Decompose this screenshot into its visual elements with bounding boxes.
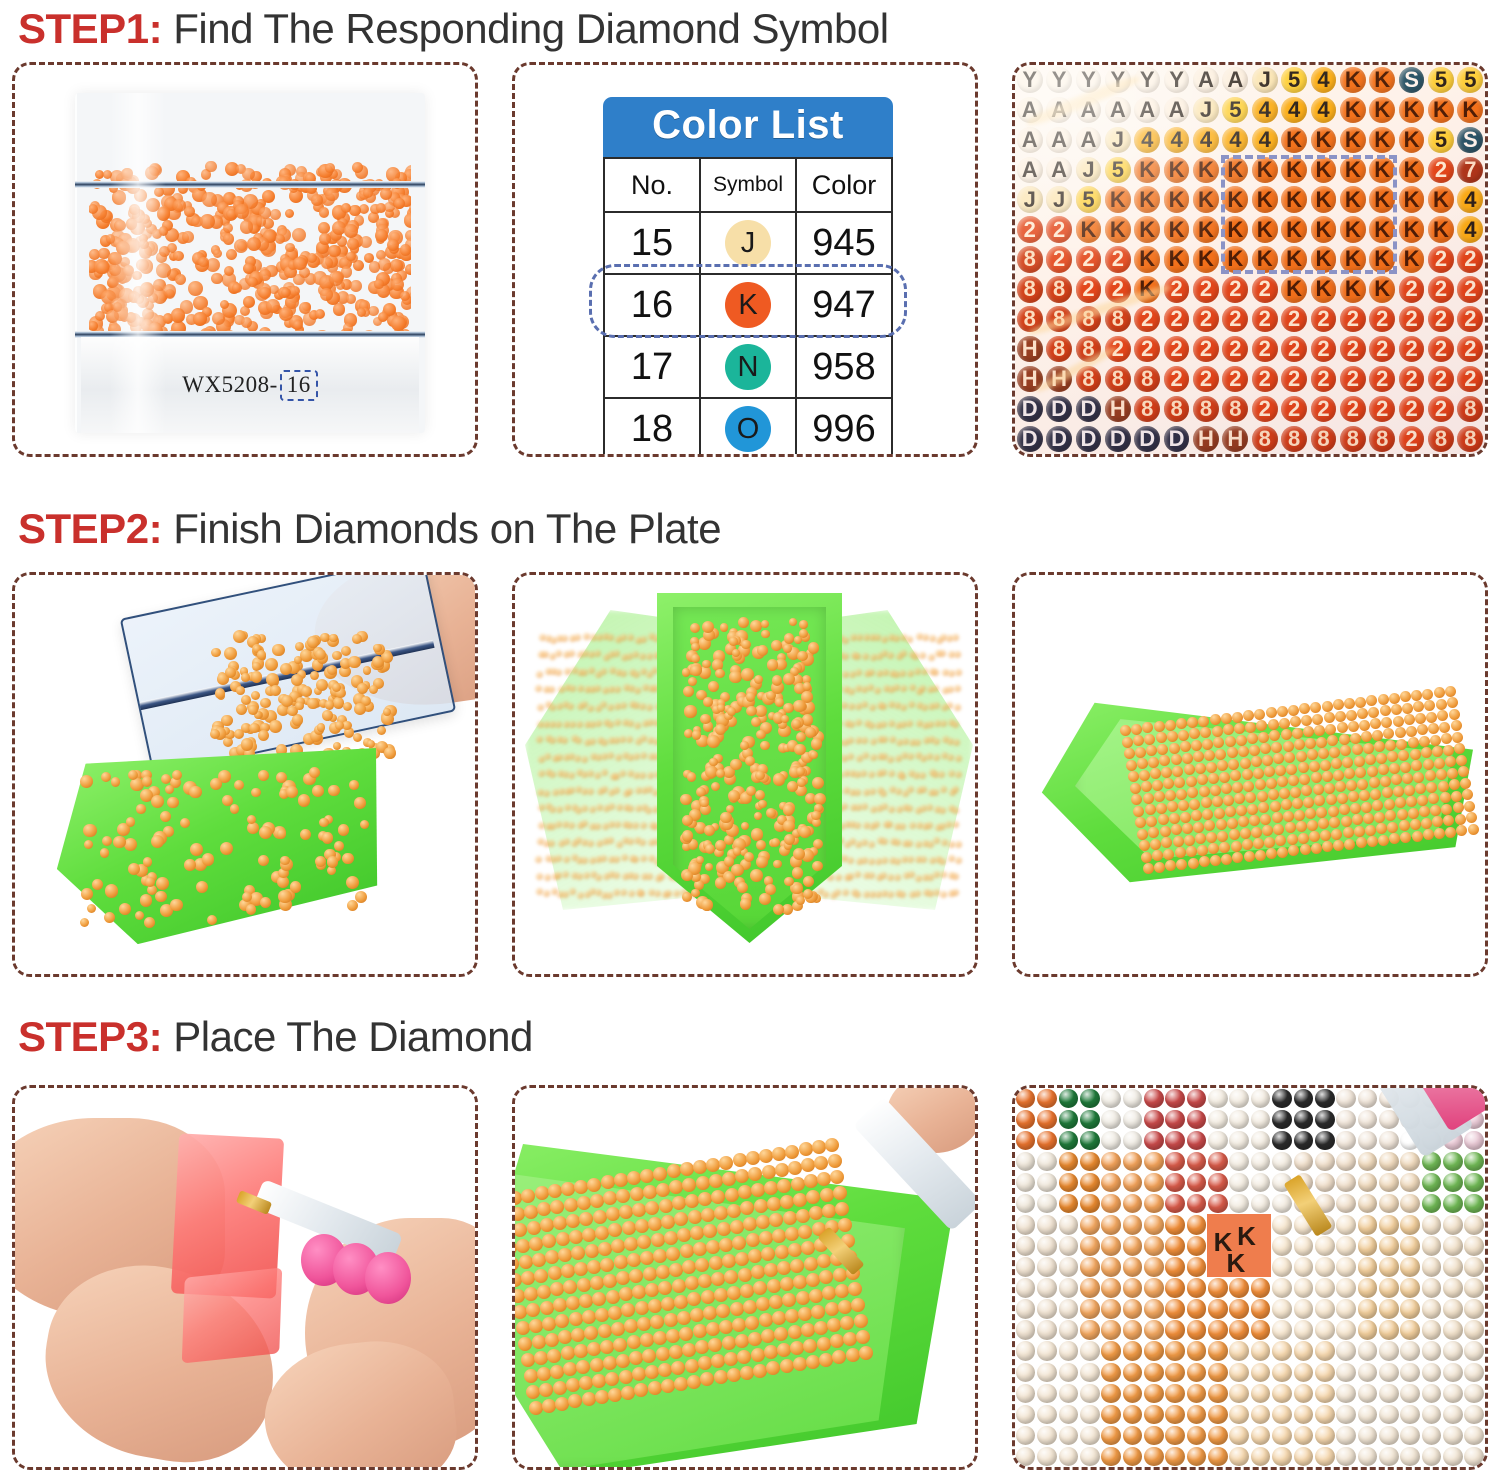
bead bbox=[277, 829, 287, 839]
step3-panel-waxpad bbox=[12, 1085, 478, 1470]
bead bbox=[579, 1376, 593, 1390]
bead bbox=[126, 817, 135, 826]
bead bbox=[1283, 741, 1294, 752]
bead bbox=[719, 1238, 733, 1252]
symbol-cell: 2 bbox=[1103, 274, 1132, 304]
bead bbox=[680, 1244, 694, 1258]
bead bbox=[1382, 787, 1393, 798]
bead bbox=[1422, 689, 1433, 700]
symbol-letter: 2 bbox=[1435, 336, 1447, 362]
bead bbox=[1402, 773, 1413, 784]
bead bbox=[582, 1310, 596, 1324]
bead bbox=[1447, 697, 1458, 708]
bead bbox=[782, 1293, 796, 1307]
bead bbox=[550, 1200, 564, 1214]
bead bbox=[584, 1326, 598, 1340]
symbol-cell: J bbox=[1074, 155, 1103, 185]
bead bbox=[1251, 827, 1262, 838]
step1-number: STEP1 bbox=[18, 5, 149, 52]
step2-panel-shake bbox=[512, 572, 978, 977]
bead bbox=[648, 1217, 662, 1231]
bead bbox=[1378, 764, 1389, 775]
symbol-letter: 2 bbox=[1317, 396, 1329, 422]
bead bbox=[262, 190, 275, 203]
symbol-cell: K bbox=[1368, 274, 1397, 304]
bead bbox=[1343, 827, 1354, 838]
bead bbox=[590, 1194, 604, 1208]
bead bbox=[629, 1269, 643, 1283]
bead bbox=[732, 1318, 746, 1332]
bead bbox=[803, 682, 811, 690]
bead bbox=[832, 1350, 846, 1364]
bead bbox=[529, 1401, 543, 1415]
bead bbox=[1395, 727, 1406, 738]
symbol-letter: 2 bbox=[1200, 366, 1212, 392]
bead bbox=[851, 1298, 865, 1312]
bead bbox=[529, 1237, 543, 1251]
symbol-letter: 8 bbox=[1053, 336, 1065, 362]
bead bbox=[1231, 841, 1242, 852]
symbol-cell: K bbox=[1250, 245, 1279, 275]
color-list-row[interactable]: 17N958 bbox=[604, 336, 892, 398]
symbol-letter: K bbox=[1286, 276, 1302, 302]
bead bbox=[840, 1316, 854, 1330]
bead bbox=[1399, 820, 1410, 831]
bead bbox=[1184, 835, 1195, 846]
bead bbox=[755, 790, 765, 800]
bead bbox=[1199, 856, 1210, 867]
symbol-letter: K bbox=[1257, 187, 1273, 213]
bead bbox=[1451, 791, 1462, 802]
bead bbox=[656, 1347, 670, 1361]
color-row-code: 945 bbox=[796, 212, 892, 274]
bead bbox=[751, 717, 761, 727]
color-row-code: 996 bbox=[796, 398, 892, 454]
bead bbox=[1322, 841, 1333, 852]
bead bbox=[753, 1364, 767, 1378]
color-list-row[interactable]: 15J945 bbox=[604, 212, 892, 274]
symbol-cell: 2 bbox=[1279, 304, 1308, 334]
bead bbox=[856, 1330, 870, 1344]
symbol-letter: 2 bbox=[1259, 306, 1271, 332]
symbol-cell: 4 bbox=[1250, 125, 1279, 155]
bead bbox=[1372, 730, 1383, 741]
symbol-cell: 2 bbox=[1456, 334, 1485, 364]
symbol-letter: 8 bbox=[1259, 426, 1271, 452]
bead bbox=[722, 1172, 736, 1186]
bead bbox=[806, 1355, 820, 1369]
bead bbox=[1410, 819, 1421, 830]
symbol-cell: 2 bbox=[1397, 274, 1426, 304]
symbol-letter: 2 bbox=[1464, 366, 1476, 392]
symbol-letter: J bbox=[1112, 127, 1124, 153]
bead bbox=[1299, 703, 1310, 714]
symbol-cell: 2 bbox=[1426, 245, 1455, 275]
bead bbox=[1199, 786, 1210, 797]
bead bbox=[1357, 708, 1368, 719]
bead bbox=[748, 1332, 762, 1346]
symbol-letter: J bbox=[1082, 157, 1094, 183]
symbol-cell: K bbox=[1133, 274, 1162, 304]
bead bbox=[643, 1185, 657, 1199]
bead bbox=[1260, 743, 1271, 754]
bead bbox=[80, 918, 89, 927]
symbol-cell: D bbox=[1044, 394, 1073, 424]
bead bbox=[83, 824, 96, 837]
bead bbox=[1367, 766, 1378, 777]
symbol-cell: K bbox=[1426, 185, 1455, 215]
bead bbox=[1337, 722, 1348, 733]
bead bbox=[151, 835, 164, 848]
bead bbox=[1131, 794, 1142, 805]
symbol-letter: Y bbox=[1022, 67, 1037, 93]
bead bbox=[1227, 747, 1238, 758]
symbol-cell: A bbox=[1074, 95, 1103, 125]
bead bbox=[563, 1362, 577, 1376]
bead bbox=[751, 1348, 765, 1362]
bead bbox=[1436, 699, 1447, 710]
bead bbox=[791, 1177, 805, 1191]
bead bbox=[715, 724, 726, 735]
bead bbox=[759, 1149, 773, 1163]
symbol-cell: 2 bbox=[1309, 394, 1338, 424]
bead bbox=[521, 1271, 535, 1285]
bead bbox=[286, 786, 298, 798]
bead bbox=[785, 1309, 799, 1323]
symbol-letter: D bbox=[1051, 426, 1067, 452]
bag-glare bbox=[110, 93, 166, 433]
bead bbox=[808, 642, 819, 653]
bead bbox=[1387, 751, 1398, 762]
bead bbox=[1329, 747, 1340, 758]
color-list-card: Color List No. Symbol Color 15J94516K947… bbox=[603, 97, 893, 454]
bead bbox=[1307, 749, 1318, 760]
bead bbox=[1288, 775, 1299, 786]
symbol-letter: J bbox=[1200, 97, 1212, 123]
bead bbox=[1363, 743, 1374, 754]
bead bbox=[1352, 814, 1363, 825]
color-list-header-row: No. Symbol Color bbox=[604, 158, 892, 212]
bead bbox=[1154, 721, 1165, 732]
bead bbox=[755, 771, 765, 781]
bead bbox=[714, 1288, 728, 1302]
symbol-letter: K bbox=[1227, 217, 1243, 243]
bead bbox=[1242, 769, 1253, 780]
bead bbox=[792, 884, 802, 894]
symbol-letter: A bbox=[1198, 67, 1214, 93]
bead bbox=[812, 777, 824, 789]
bead bbox=[569, 1230, 583, 1244]
bead bbox=[737, 1350, 751, 1364]
symbol-cell: 4 bbox=[1456, 215, 1485, 245]
bead bbox=[278, 890, 291, 903]
bead bbox=[806, 1190, 820, 1204]
bead bbox=[167, 797, 179, 809]
bead bbox=[1410, 749, 1421, 760]
bead bbox=[1154, 791, 1165, 802]
color-list-row[interactable]: 16K947 bbox=[604, 274, 892, 336]
bead bbox=[1372, 800, 1383, 811]
symbol-letter: 2 bbox=[1435, 276, 1447, 302]
bead bbox=[1178, 800, 1189, 811]
symbol-cell: 2 bbox=[1368, 394, 1397, 424]
step1-panel-colorlist: Color List No. Symbol Color 15J94516K947… bbox=[512, 62, 978, 457]
symbol-letter: K bbox=[1139, 246, 1155, 272]
symbol-letter: 2 bbox=[1288, 366, 1300, 392]
bead bbox=[212, 312, 225, 325]
symbol-cell: A bbox=[1015, 95, 1044, 125]
bead bbox=[1443, 815, 1454, 826]
bead bbox=[258, 855, 269, 866]
symbol-letter: 2 bbox=[1288, 306, 1300, 332]
bead bbox=[695, 1340, 709, 1354]
symbol-cell: 2 bbox=[1309, 364, 1338, 394]
bead bbox=[729, 671, 741, 683]
symbol-letter: 8 bbox=[1112, 306, 1124, 332]
symbol-letter: A bbox=[1169, 97, 1185, 123]
bead bbox=[735, 1334, 749, 1348]
bead bbox=[1182, 823, 1193, 834]
bead bbox=[1198, 716, 1209, 727]
bead bbox=[341, 203, 351, 213]
symbol-letter: 2 bbox=[1170, 276, 1182, 302]
symbol-cell: D bbox=[1074, 424, 1103, 454]
bead bbox=[1359, 790, 1370, 801]
bead bbox=[188, 281, 203, 296]
bead bbox=[1328, 806, 1339, 817]
symbol-cell: K bbox=[1133, 155, 1162, 185]
bead bbox=[727, 1286, 741, 1300]
bead bbox=[1307, 820, 1318, 831]
bead bbox=[1389, 693, 1400, 704]
symbol-letter: 4 bbox=[1259, 97, 1271, 123]
symbol-letter: K bbox=[1198, 157, 1214, 183]
bead bbox=[1255, 850, 1266, 861]
bead bbox=[1327, 735, 1338, 746]
symbol-cell: K bbox=[1221, 185, 1250, 215]
bead bbox=[746, 1151, 760, 1165]
symbol-letter: D bbox=[1022, 426, 1038, 452]
bead bbox=[1217, 760, 1228, 771]
symbol-letter: K bbox=[1462, 97, 1478, 123]
symbol-cell: 2 bbox=[1338, 304, 1367, 334]
symbol-letter: 4 bbox=[1229, 127, 1241, 153]
bead bbox=[744, 852, 754, 862]
symbol-letter: K bbox=[1404, 187, 1420, 213]
bead bbox=[524, 1205, 538, 1219]
bead bbox=[190, 843, 203, 856]
bead bbox=[645, 1201, 659, 1215]
bead bbox=[825, 1138, 839, 1152]
symbol-cell: A bbox=[1015, 155, 1044, 185]
symbol-letter: K bbox=[1404, 217, 1420, 243]
symbol-letter: K bbox=[1345, 127, 1361, 153]
bead bbox=[830, 1170, 844, 1184]
bead bbox=[1253, 768, 1264, 779]
bead bbox=[205, 161, 216, 172]
bead bbox=[783, 804, 795, 816]
bead bbox=[1249, 745, 1260, 756]
bead bbox=[1357, 779, 1368, 790]
bead bbox=[1417, 795, 1428, 806]
symbol-letter: 2 bbox=[1435, 366, 1447, 392]
symbol-cell: A bbox=[1221, 65, 1250, 95]
bead bbox=[1460, 778, 1471, 789]
bead bbox=[223, 223, 233, 233]
bead bbox=[87, 904, 96, 913]
symbol-letter: K bbox=[1404, 246, 1420, 272]
symbol-cell: Y bbox=[1162, 65, 1191, 95]
bead bbox=[1400, 762, 1411, 773]
symbol-cell: K bbox=[1162, 155, 1191, 185]
symbol-cell: 2 bbox=[1338, 364, 1367, 394]
bead bbox=[635, 1301, 649, 1315]
bead bbox=[1193, 751, 1204, 762]
bead-bag: WX5208-16 bbox=[75, 93, 425, 433]
symbol-cell: 8 bbox=[1074, 364, 1103, 394]
bead bbox=[748, 1167, 762, 1181]
symbol-cell: K bbox=[1309, 274, 1338, 304]
bead bbox=[1441, 733, 1452, 744]
bead bbox=[1126, 760, 1137, 771]
bead bbox=[1146, 745, 1157, 756]
bead bbox=[189, 786, 201, 798]
bead bbox=[1273, 824, 1284, 835]
bead bbox=[674, 1295, 688, 1309]
bead bbox=[1256, 720, 1267, 731]
symbol-letter: 2 bbox=[1405, 306, 1417, 332]
tray-beads-scattered bbox=[15, 575, 475, 974]
bead bbox=[793, 1275, 807, 1289]
bead bbox=[1236, 735, 1247, 746]
symbol-cell: 2 bbox=[1426, 155, 1455, 185]
symbol-cell: K bbox=[1279, 215, 1308, 245]
symbol-cell: 2 bbox=[1074, 245, 1103, 275]
bead bbox=[667, 1164, 681, 1178]
bead bbox=[1225, 736, 1236, 747]
symbol-cell: Y bbox=[1074, 65, 1103, 95]
bead bbox=[1443, 745, 1454, 756]
bead bbox=[180, 818, 190, 828]
bead bbox=[696, 856, 704, 864]
symbol-cell: K bbox=[1221, 245, 1250, 275]
symbol-cell: K bbox=[1221, 155, 1250, 185]
bead bbox=[1361, 731, 1372, 742]
symbol-cell: 8 bbox=[1279, 424, 1308, 454]
symbol-letter: K bbox=[1433, 187, 1449, 213]
symbol-letter: 2 bbox=[1170, 366, 1182, 392]
symbol-letter: 4 bbox=[1464, 217, 1476, 243]
bead bbox=[833, 1186, 847, 1200]
symbol-cell: J bbox=[1191, 95, 1220, 125]
bead bbox=[656, 1265, 670, 1279]
symbol-cell: K bbox=[1309, 245, 1338, 275]
bead bbox=[1175, 847, 1186, 858]
bead bbox=[740, 1284, 754, 1298]
symbol-cell: K bbox=[1250, 215, 1279, 245]
exposed-symbol-letter: K bbox=[1237, 1221, 1256, 1252]
bead bbox=[1202, 739, 1213, 750]
bead bbox=[715, 840, 726, 851]
bead bbox=[322, 832, 333, 843]
bead bbox=[1419, 806, 1430, 817]
bead bbox=[693, 1242, 707, 1256]
bead bbox=[319, 233, 331, 245]
bead bbox=[1452, 732, 1463, 743]
bead bbox=[328, 785, 340, 797]
bead bbox=[1195, 833, 1206, 844]
bead bbox=[751, 1265, 765, 1279]
bead bbox=[524, 1369, 538, 1383]
bead bbox=[627, 1335, 641, 1349]
symbol-cell: Y bbox=[1044, 65, 1073, 95]
bead bbox=[804, 1174, 818, 1188]
bead bbox=[796, 896, 805, 905]
symbol-cell: 8 bbox=[1044, 304, 1073, 334]
bead bbox=[1366, 695, 1377, 706]
bead bbox=[1290, 787, 1301, 798]
bead bbox=[680, 1162, 694, 1176]
bead bbox=[690, 665, 702, 677]
bead bbox=[1176, 718, 1187, 729]
bead bbox=[1234, 793, 1245, 804]
bead bbox=[1292, 798, 1303, 809]
bead bbox=[1370, 718, 1381, 729]
bead bbox=[534, 1351, 548, 1365]
symbol-letter: 8 bbox=[1024, 276, 1036, 302]
symbol-letter: Y bbox=[1081, 67, 1096, 93]
symbol-cell: 2 bbox=[1162, 334, 1191, 364]
symbol-letter: 2 bbox=[1405, 276, 1417, 302]
bead bbox=[722, 1254, 736, 1268]
bead bbox=[719, 1156, 733, 1170]
bead bbox=[1217, 831, 1228, 842]
bead bbox=[266, 299, 279, 312]
bead bbox=[1204, 820, 1215, 831]
bead bbox=[674, 1212, 688, 1226]
bead bbox=[585, 1244, 599, 1258]
bead bbox=[701, 899, 712, 910]
bead bbox=[811, 1305, 825, 1319]
bead bbox=[783, 820, 795, 832]
bead bbox=[812, 861, 823, 872]
color-row-symbol: O bbox=[700, 398, 796, 454]
bead bbox=[1393, 716, 1404, 727]
bead bbox=[1352, 744, 1363, 755]
bead bbox=[738, 617, 749, 628]
bead bbox=[1197, 774, 1208, 785]
bead bbox=[731, 864, 744, 877]
bead bbox=[1404, 785, 1415, 796]
symbol-cell: K bbox=[1368, 95, 1397, 125]
symbol-letter: 2 bbox=[1464, 336, 1476, 362]
color-list-row[interactable]: 18O996 bbox=[604, 398, 892, 454]
symbol-cell: K bbox=[1309, 215, 1338, 245]
symbol-cell: K bbox=[1338, 95, 1367, 125]
bead bbox=[542, 1317, 556, 1331]
bead bbox=[1458, 766, 1469, 777]
symbol-letter: 8 bbox=[1288, 426, 1300, 452]
bead bbox=[1430, 805, 1441, 816]
symbol-cell: K bbox=[1133, 185, 1162, 215]
bead bbox=[799, 629, 808, 638]
bead bbox=[761, 620, 769, 628]
symbol-letter: 2 bbox=[1435, 396, 1447, 422]
symbol-letter: 2 bbox=[1024, 217, 1036, 243]
bead bbox=[369, 261, 380, 272]
symbol-cell: 2 bbox=[1191, 334, 1220, 364]
bead bbox=[1193, 822, 1204, 833]
